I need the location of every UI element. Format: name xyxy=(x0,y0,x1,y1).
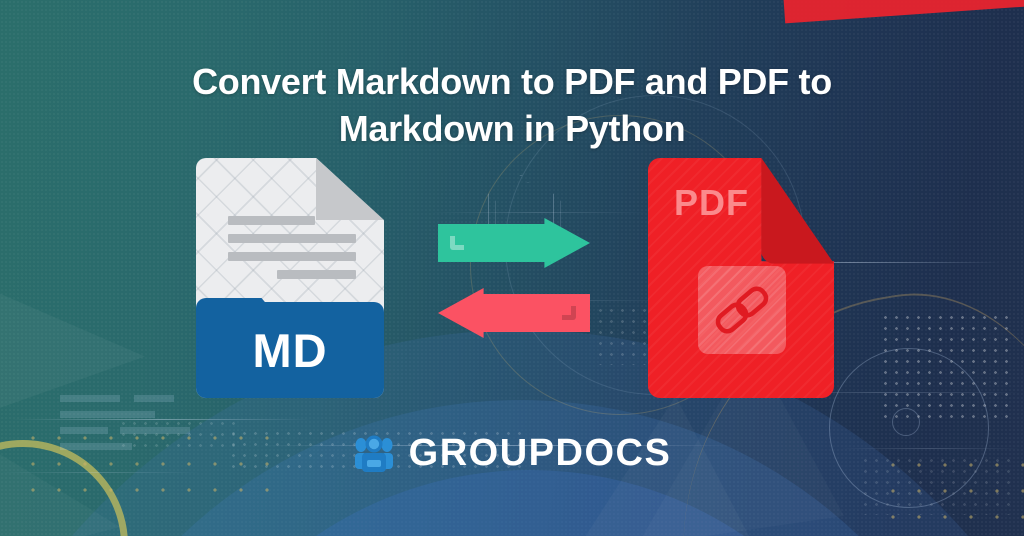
markdown-text-lines xyxy=(228,216,356,288)
pdf-file-icon: PDF xyxy=(648,158,834,398)
link-icon xyxy=(712,280,772,340)
triangle-decor-left xyxy=(0,285,145,415)
page-title-line-1: Convert Markdown to PDF and PDF to xyxy=(0,58,1024,105)
hairline-4 xyxy=(430,212,650,213)
pdf-folded-corner xyxy=(761,158,834,264)
pdf-extension-label: PDF xyxy=(674,182,749,224)
markdown-file-icon: MD xyxy=(196,158,384,398)
red-accent-stripe xyxy=(783,0,1024,23)
markdown-text-line xyxy=(228,252,356,261)
groupdocs-logo: GROUPDOCS xyxy=(0,432,1024,475)
groupdocs-mark-icon xyxy=(353,434,395,474)
circle-outline-bottom-right xyxy=(829,348,989,508)
page-title: Convert Markdown to PDF and PDF to Markd… xyxy=(0,58,1024,152)
pdf-inner-badge xyxy=(698,266,786,354)
dot-field-1 xyxy=(880,312,1010,422)
markdown-text-line xyxy=(277,270,356,279)
markdown-extension-label: MD xyxy=(196,302,384,398)
dome-arc-inner xyxy=(150,470,910,536)
markdown-text-line xyxy=(228,234,356,243)
hairline-1 xyxy=(12,419,312,420)
page-title-line-2: Markdown in Python xyxy=(0,105,1024,152)
conversion-arrows xyxy=(438,218,590,338)
banner: Convert Markdown to PDF and PDF to Markd… xyxy=(0,0,1024,536)
arrow-left-accent xyxy=(562,306,576,320)
arrow-right-accent xyxy=(450,236,464,250)
markdown-text-line xyxy=(228,216,315,225)
groupdocs-wordmark: GROUPDOCS xyxy=(409,432,672,475)
